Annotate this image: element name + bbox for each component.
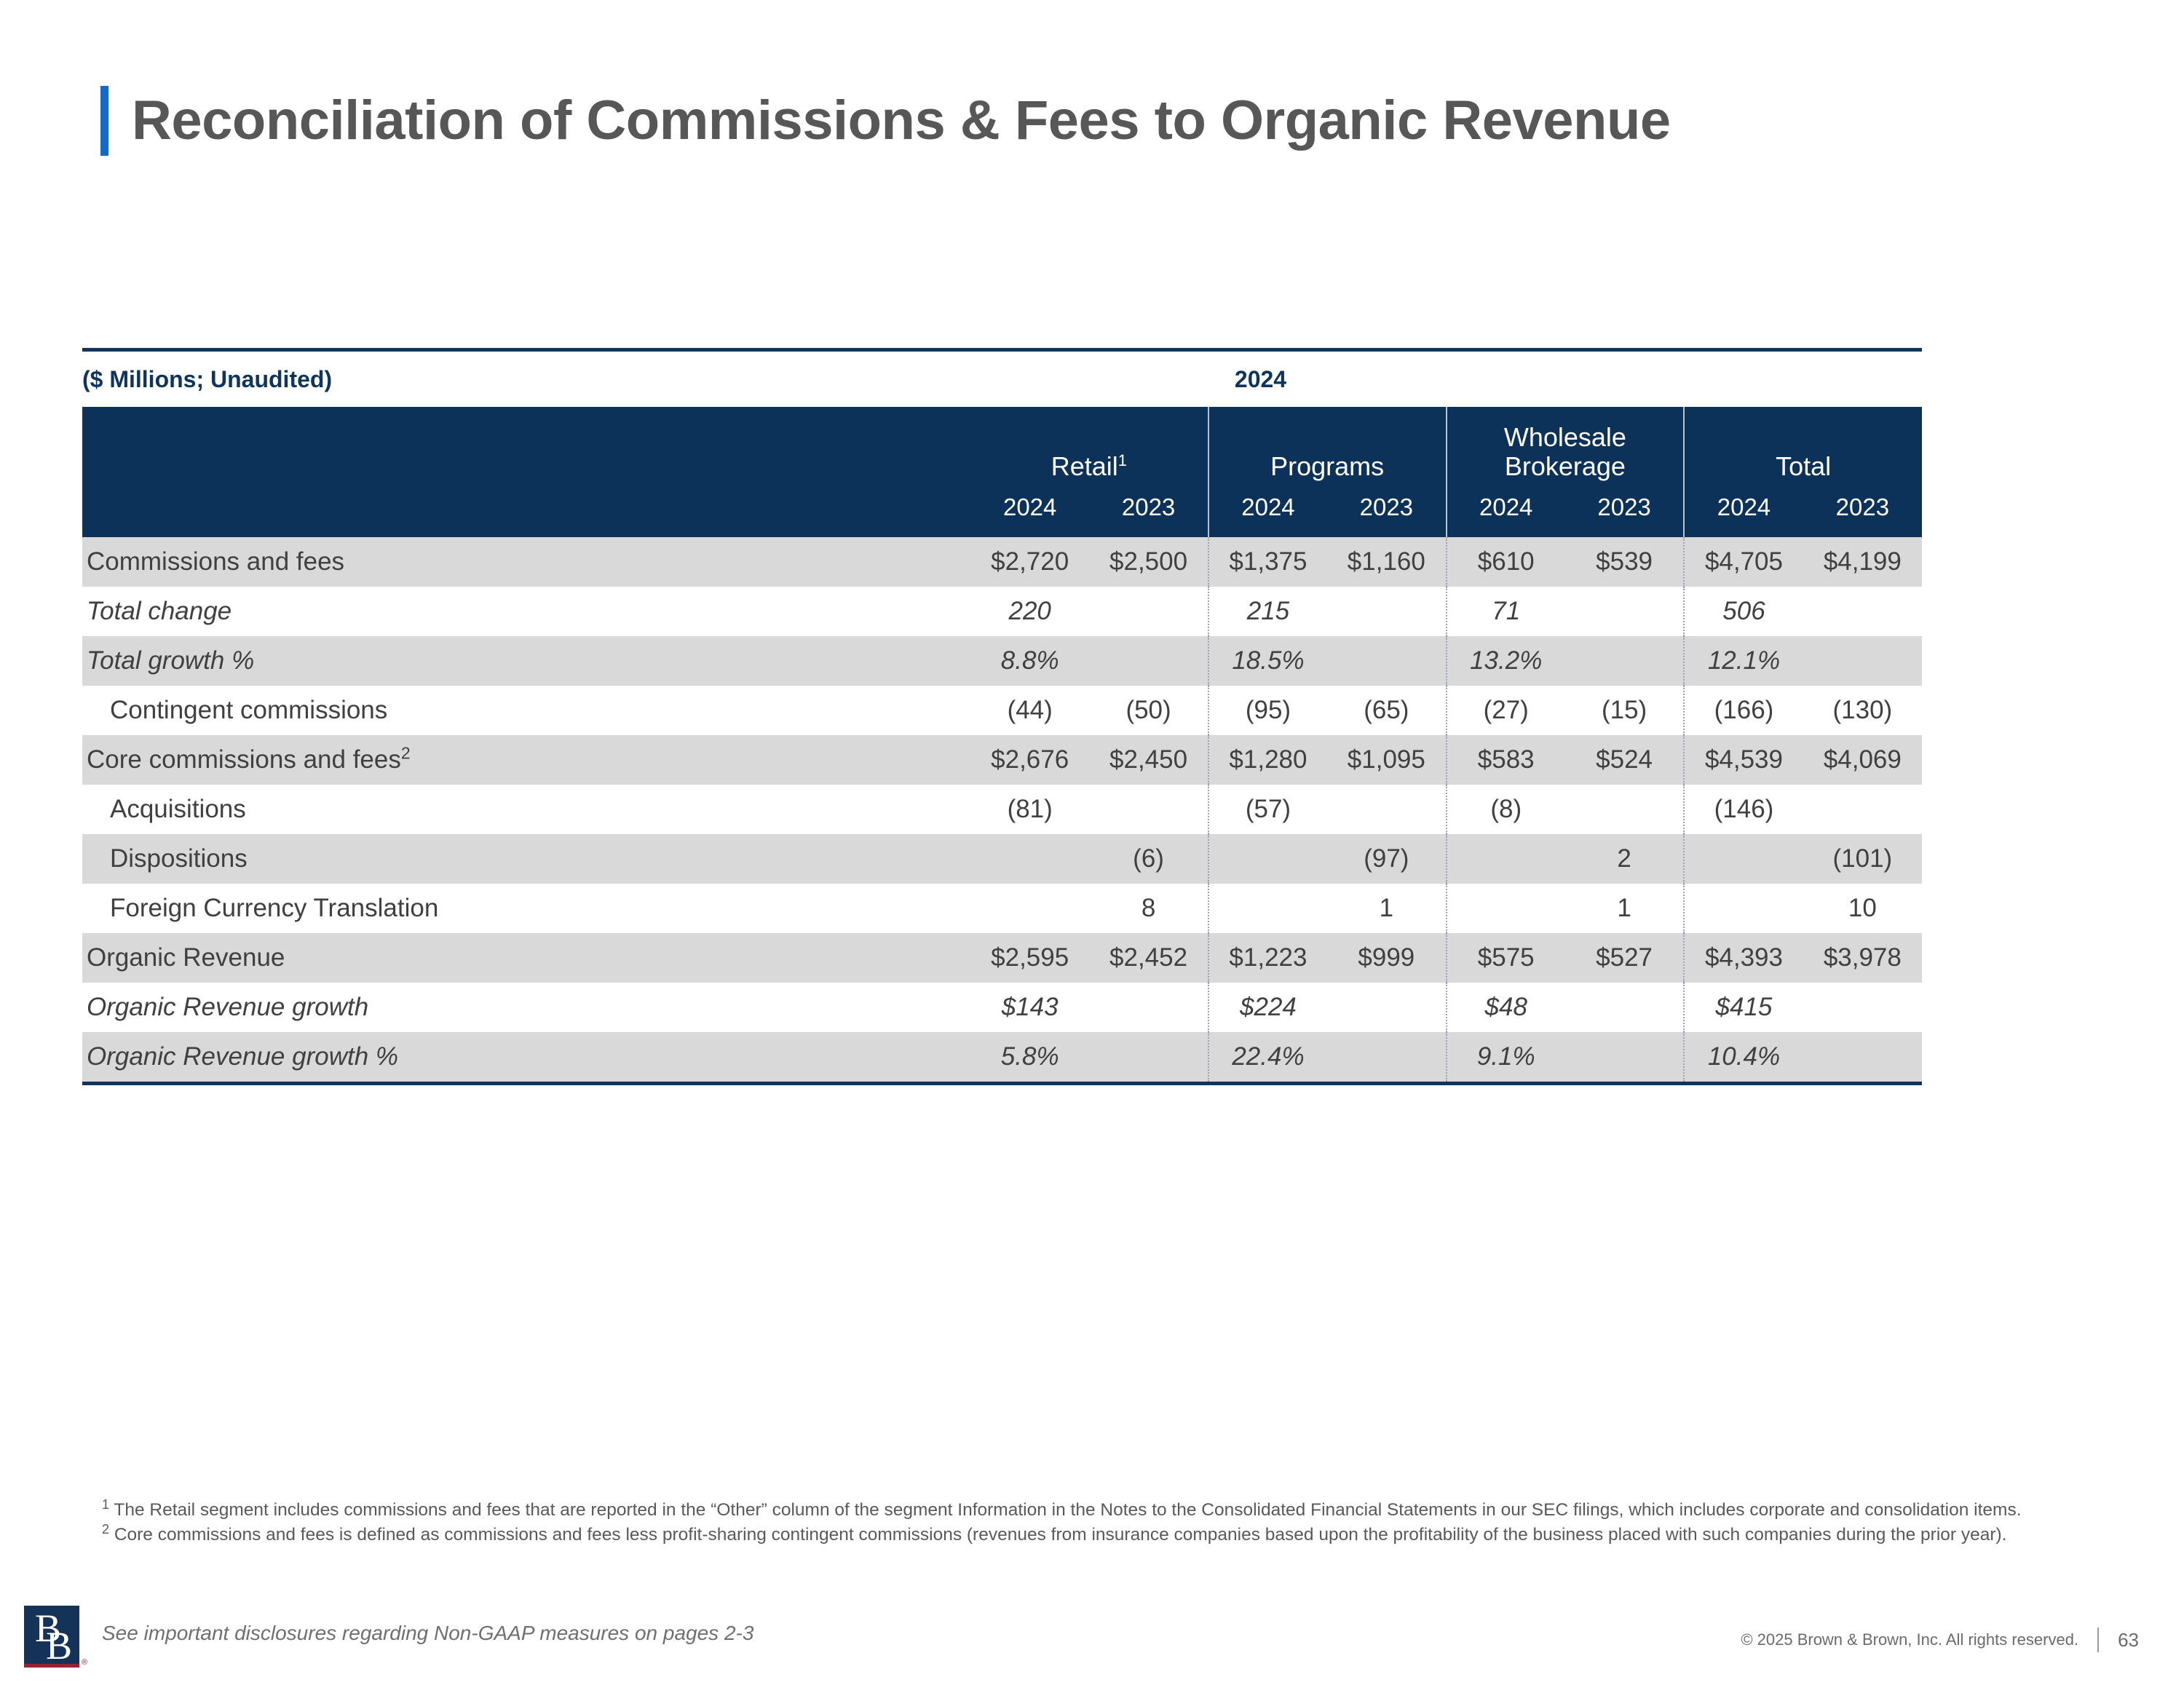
row-label: Commissions and fees (82, 537, 970, 587)
registered-trademark-icon: ® (82, 1658, 87, 1667)
table-row: Organic Revenue$2,595$2,452$1,223$999$57… (82, 933, 1922, 983)
brown-and-brown-logo: B B ® (24, 1606, 79, 1668)
table-body: Commissions and fees$2,720$2,500$1,375$1… (82, 537, 1922, 1082)
group-label-wholesale-line2: Brokerage (1505, 451, 1626, 481)
table-cell: $143 (970, 983, 1089, 1032)
table-cell: 1 (1327, 884, 1446, 933)
table-cell (1327, 636, 1446, 686)
year-header-total-2023: 2023 (1803, 486, 1922, 537)
table-cell (1208, 884, 1327, 933)
table-cell: 215 (1208, 587, 1327, 636)
row-label: Acquisitions (82, 785, 970, 834)
footnote-2: 2 Core commissions and fees is defined a… (102, 1523, 2111, 1547)
table-cell (1565, 1032, 1684, 1082)
group-header-programs: Programs (1208, 407, 1447, 486)
group-header-wholesale-brokerage: WholesaleBrokerage (1447, 407, 1685, 486)
table-cell: $4,069 (1803, 735, 1922, 785)
table-cell (1208, 834, 1327, 884)
group-header-row: Retail1 Programs WholesaleBrokerage Tota… (82, 407, 1922, 486)
table-year-caption: 2024 (82, 366, 1922, 393)
table-cell: $415 (1684, 983, 1803, 1032)
group-label-programs: Programs (1270, 451, 1384, 481)
footnote-1-marker: 1 (102, 1497, 109, 1512)
year-header-row: 2024 2023 2024 2023 2024 2023 2024 2023 (82, 486, 1922, 537)
table-cell (970, 834, 1089, 884)
table-cell: $48 (1447, 983, 1565, 1032)
year-header-programs-2024: 2024 (1208, 486, 1327, 537)
table-cell: (15) (1565, 686, 1684, 735)
table-cell: $4,393 (1684, 933, 1803, 983)
table-cell: 13.2% (1447, 636, 1565, 686)
table-row: Commissions and fees$2,720$2,500$1,375$1… (82, 537, 1922, 587)
table-cell (1327, 785, 1446, 834)
row-label-text: Foreign Currency Translation (110, 894, 438, 922)
non-gaap-disclosure: See important disclosures regarding Non-… (102, 1622, 753, 1645)
group-header-blank (82, 407, 970, 486)
table-cell: $1,160 (1327, 537, 1446, 587)
table-cell: 12.1% (1684, 636, 1803, 686)
table-cell: $539 (1565, 537, 1684, 587)
table-cell: (95) (1208, 686, 1327, 735)
row-label-text: Total change (87, 597, 232, 625)
table-cell (1803, 1032, 1922, 1082)
table-row: Contingent commissions(44)(50)(95)(65)(2… (82, 686, 1922, 735)
row-label-text: Acquisitions (110, 795, 246, 823)
year-header-wholesale-2024: 2024 (1447, 486, 1565, 537)
row-label-text: Contingent commissions (110, 696, 387, 724)
row-label: Organic Revenue (82, 933, 970, 983)
table-cell (1089, 636, 1208, 686)
table-cell: $2,452 (1089, 933, 1208, 983)
table-cell: 8 (1089, 884, 1208, 933)
table-cell: $583 (1447, 735, 1565, 785)
row-label: Organic Revenue growth % (82, 1032, 970, 1082)
table-bottom-rule (82, 1082, 1922, 1085)
table-row: Total growth %8.8%18.5%13.2%12.1% (82, 636, 1922, 686)
footnote-2-text: Core commissions and fees is defined as … (114, 1525, 2007, 1545)
table-cell (1089, 785, 1208, 834)
footnotes: 1 The Retail segment includes commission… (102, 1498, 2111, 1547)
page-title: Reconciliation of Commissions & Fees to … (132, 93, 1671, 148)
table-cell: $2,676 (970, 735, 1089, 785)
table-cell: (97) (1327, 834, 1446, 884)
table-cell: 220 (970, 587, 1089, 636)
group-label-wholesale-line1: Wholesale (1504, 422, 1626, 452)
group-footnote-marker-retail: 1 (1118, 451, 1127, 469)
table-cell: $524 (1565, 735, 1684, 785)
table-row: Organic Revenue growth %5.8%22.4%9.1%10.… (82, 1032, 1922, 1082)
table-cell: $2,720 (970, 537, 1089, 587)
table-cell (1565, 636, 1684, 686)
year-header-programs-2023: 2023 (1327, 486, 1446, 537)
table-cell (1447, 884, 1565, 933)
row-label-text: Organic Revenue growth (87, 993, 368, 1021)
table-cell: $1,280 (1208, 735, 1327, 785)
table-row: Dispositions(6)(97)2(101) (82, 834, 1922, 884)
table-cell: (130) (1803, 686, 1922, 735)
table-cell: $2,450 (1089, 735, 1208, 785)
table-cell: $4,705 (1684, 537, 1803, 587)
table-cell: $4,539 (1684, 735, 1803, 785)
title-accent-bar (100, 86, 108, 156)
table-cell (1684, 884, 1803, 933)
table-row: Organic Revenue growth$143$224$48$415 (82, 983, 1922, 1032)
year-header-retail-2023: 2023 (1089, 486, 1208, 537)
table-cell: 8.8% (970, 636, 1089, 686)
table-row: Foreign Currency Translation81110 (82, 884, 1922, 933)
table-cell (1089, 983, 1208, 1032)
table-cell: 9.1% (1447, 1032, 1565, 1082)
table-cell: 506 (1684, 587, 1803, 636)
year-header-total-2024: 2024 (1684, 486, 1803, 537)
row-label: Core commissions and fees2 (82, 735, 970, 785)
logo-underline (24, 1664, 79, 1668)
table-cell: $2,595 (970, 933, 1089, 983)
table-header: Retail1 Programs WholesaleBrokerage Tota… (82, 407, 1922, 537)
table-cell: (50) (1089, 686, 1208, 735)
table-cell: 2 (1565, 834, 1684, 884)
table-cell: (6) (1089, 834, 1208, 884)
group-label-retail: Retail (1051, 451, 1118, 481)
table-cell: 10 (1803, 884, 1922, 933)
table-cell (1089, 587, 1208, 636)
table-cell (1327, 983, 1446, 1032)
table-cell: (44) (970, 686, 1089, 735)
year-header-blank (82, 486, 970, 537)
table-cell: $224 (1208, 983, 1327, 1032)
row-label-text: Organic Revenue (87, 943, 285, 972)
table-cell: (27) (1447, 686, 1565, 735)
copyright-text: © 2025 Brown & Brown, Inc. All rights re… (1741, 1630, 2078, 1649)
row-label: Total change (82, 587, 970, 636)
footnote-1: 1 The Retail segment includes commission… (102, 1498, 2111, 1523)
row-footnote-marker: 2 (401, 743, 411, 762)
table-cell: $999 (1327, 933, 1446, 983)
table-cell: (57) (1208, 785, 1327, 834)
table-cell: $1,095 (1327, 735, 1446, 785)
table-cell (1684, 834, 1803, 884)
row-label: Organic Revenue growth (82, 983, 970, 1032)
row-label: Foreign Currency Translation (82, 884, 970, 933)
footnote-2-marker: 2 (102, 1522, 109, 1537)
reconciliation-table-block: ($ Millions; Unaudited) 2024 Retail1 Pro… (82, 348, 1922, 1085)
group-header-retail: Retail1 (970, 407, 1208, 486)
table-row: Total change22021571506 (82, 587, 1922, 636)
table-cell (1803, 983, 1922, 1032)
reconciliation-table: Retail1 Programs WholesaleBrokerage Tota… (82, 407, 1922, 1082)
year-header-wholesale-2023: 2023 (1565, 486, 1684, 537)
table-cell: 18.5% (1208, 636, 1327, 686)
row-label-text: Commissions and fees (87, 547, 344, 576)
table-cell: 22.4% (1208, 1032, 1327, 1082)
group-label-total: Total (1776, 451, 1831, 481)
logo-mark: B B (24, 1606, 79, 1664)
table-cell (1327, 587, 1446, 636)
table-cell (1565, 983, 1684, 1032)
table-cell (1089, 1032, 1208, 1082)
table-cell: $4,199 (1803, 537, 1922, 587)
row-label-text: Dispositions (110, 844, 248, 873)
table-cell (1447, 834, 1565, 884)
table-caption-row: ($ Millions; Unaudited) 2024 (82, 352, 1922, 407)
table-cell: (65) (1327, 686, 1446, 735)
table-cell: (8) (1447, 785, 1565, 834)
table-cell: (101) (1803, 834, 1922, 884)
table-cell (970, 884, 1089, 933)
table-cell (1803, 785, 1922, 834)
table-cell (1565, 587, 1684, 636)
table-cell: $610 (1447, 537, 1565, 587)
row-label: Contingent commissions (82, 686, 970, 735)
row-label-text: Organic Revenue growth % (87, 1042, 398, 1071)
table-cell: 71 (1447, 587, 1565, 636)
table-cell: (166) (1684, 686, 1803, 735)
table-cell: 1 (1565, 884, 1684, 933)
table-cell: $527 (1565, 933, 1684, 983)
table-cell: $1,375 (1208, 537, 1327, 587)
table-cell (1327, 1032, 1446, 1082)
table-cell: 10.4% (1684, 1032, 1803, 1082)
footnote-1-text: The Retail segment includes commissions … (114, 1500, 2021, 1520)
footer-divider (2097, 1627, 2099, 1652)
row-label: Dispositions (82, 834, 970, 884)
table-cell (1565, 785, 1684, 834)
slide-footer: © 2025 Brown & Brown, Inc. All rights re… (1741, 1627, 2139, 1652)
table-cell: $575 (1447, 933, 1565, 983)
row-label-text: Total growth % (87, 646, 254, 675)
row-label-text: Core commissions and fees (87, 745, 401, 774)
logo-letter-bottom: B (46, 1626, 72, 1664)
table-row: Core commissions and fees2$2,676$2,450$1… (82, 735, 1922, 785)
table-cell (1803, 636, 1922, 686)
table-cell: 5.8% (970, 1032, 1089, 1082)
table-cell: $3,978 (1803, 933, 1922, 983)
table-cell (1803, 587, 1922, 636)
row-label: Total growth % (82, 636, 970, 686)
table-cell: $1,223 (1208, 933, 1327, 983)
table-cell: (81) (970, 785, 1089, 834)
table-row: Acquisitions(81)(57)(8)(146) (82, 785, 1922, 834)
year-header-retail-2024: 2024 (970, 486, 1089, 537)
table-cell: (146) (1684, 785, 1803, 834)
page-number: 63 (2118, 1629, 2139, 1652)
page-title-row: Reconciliation of Commissions & Fees to … (100, 86, 1671, 156)
group-header-total: Total (1684, 407, 1922, 486)
table-cell: $2,500 (1089, 537, 1208, 587)
